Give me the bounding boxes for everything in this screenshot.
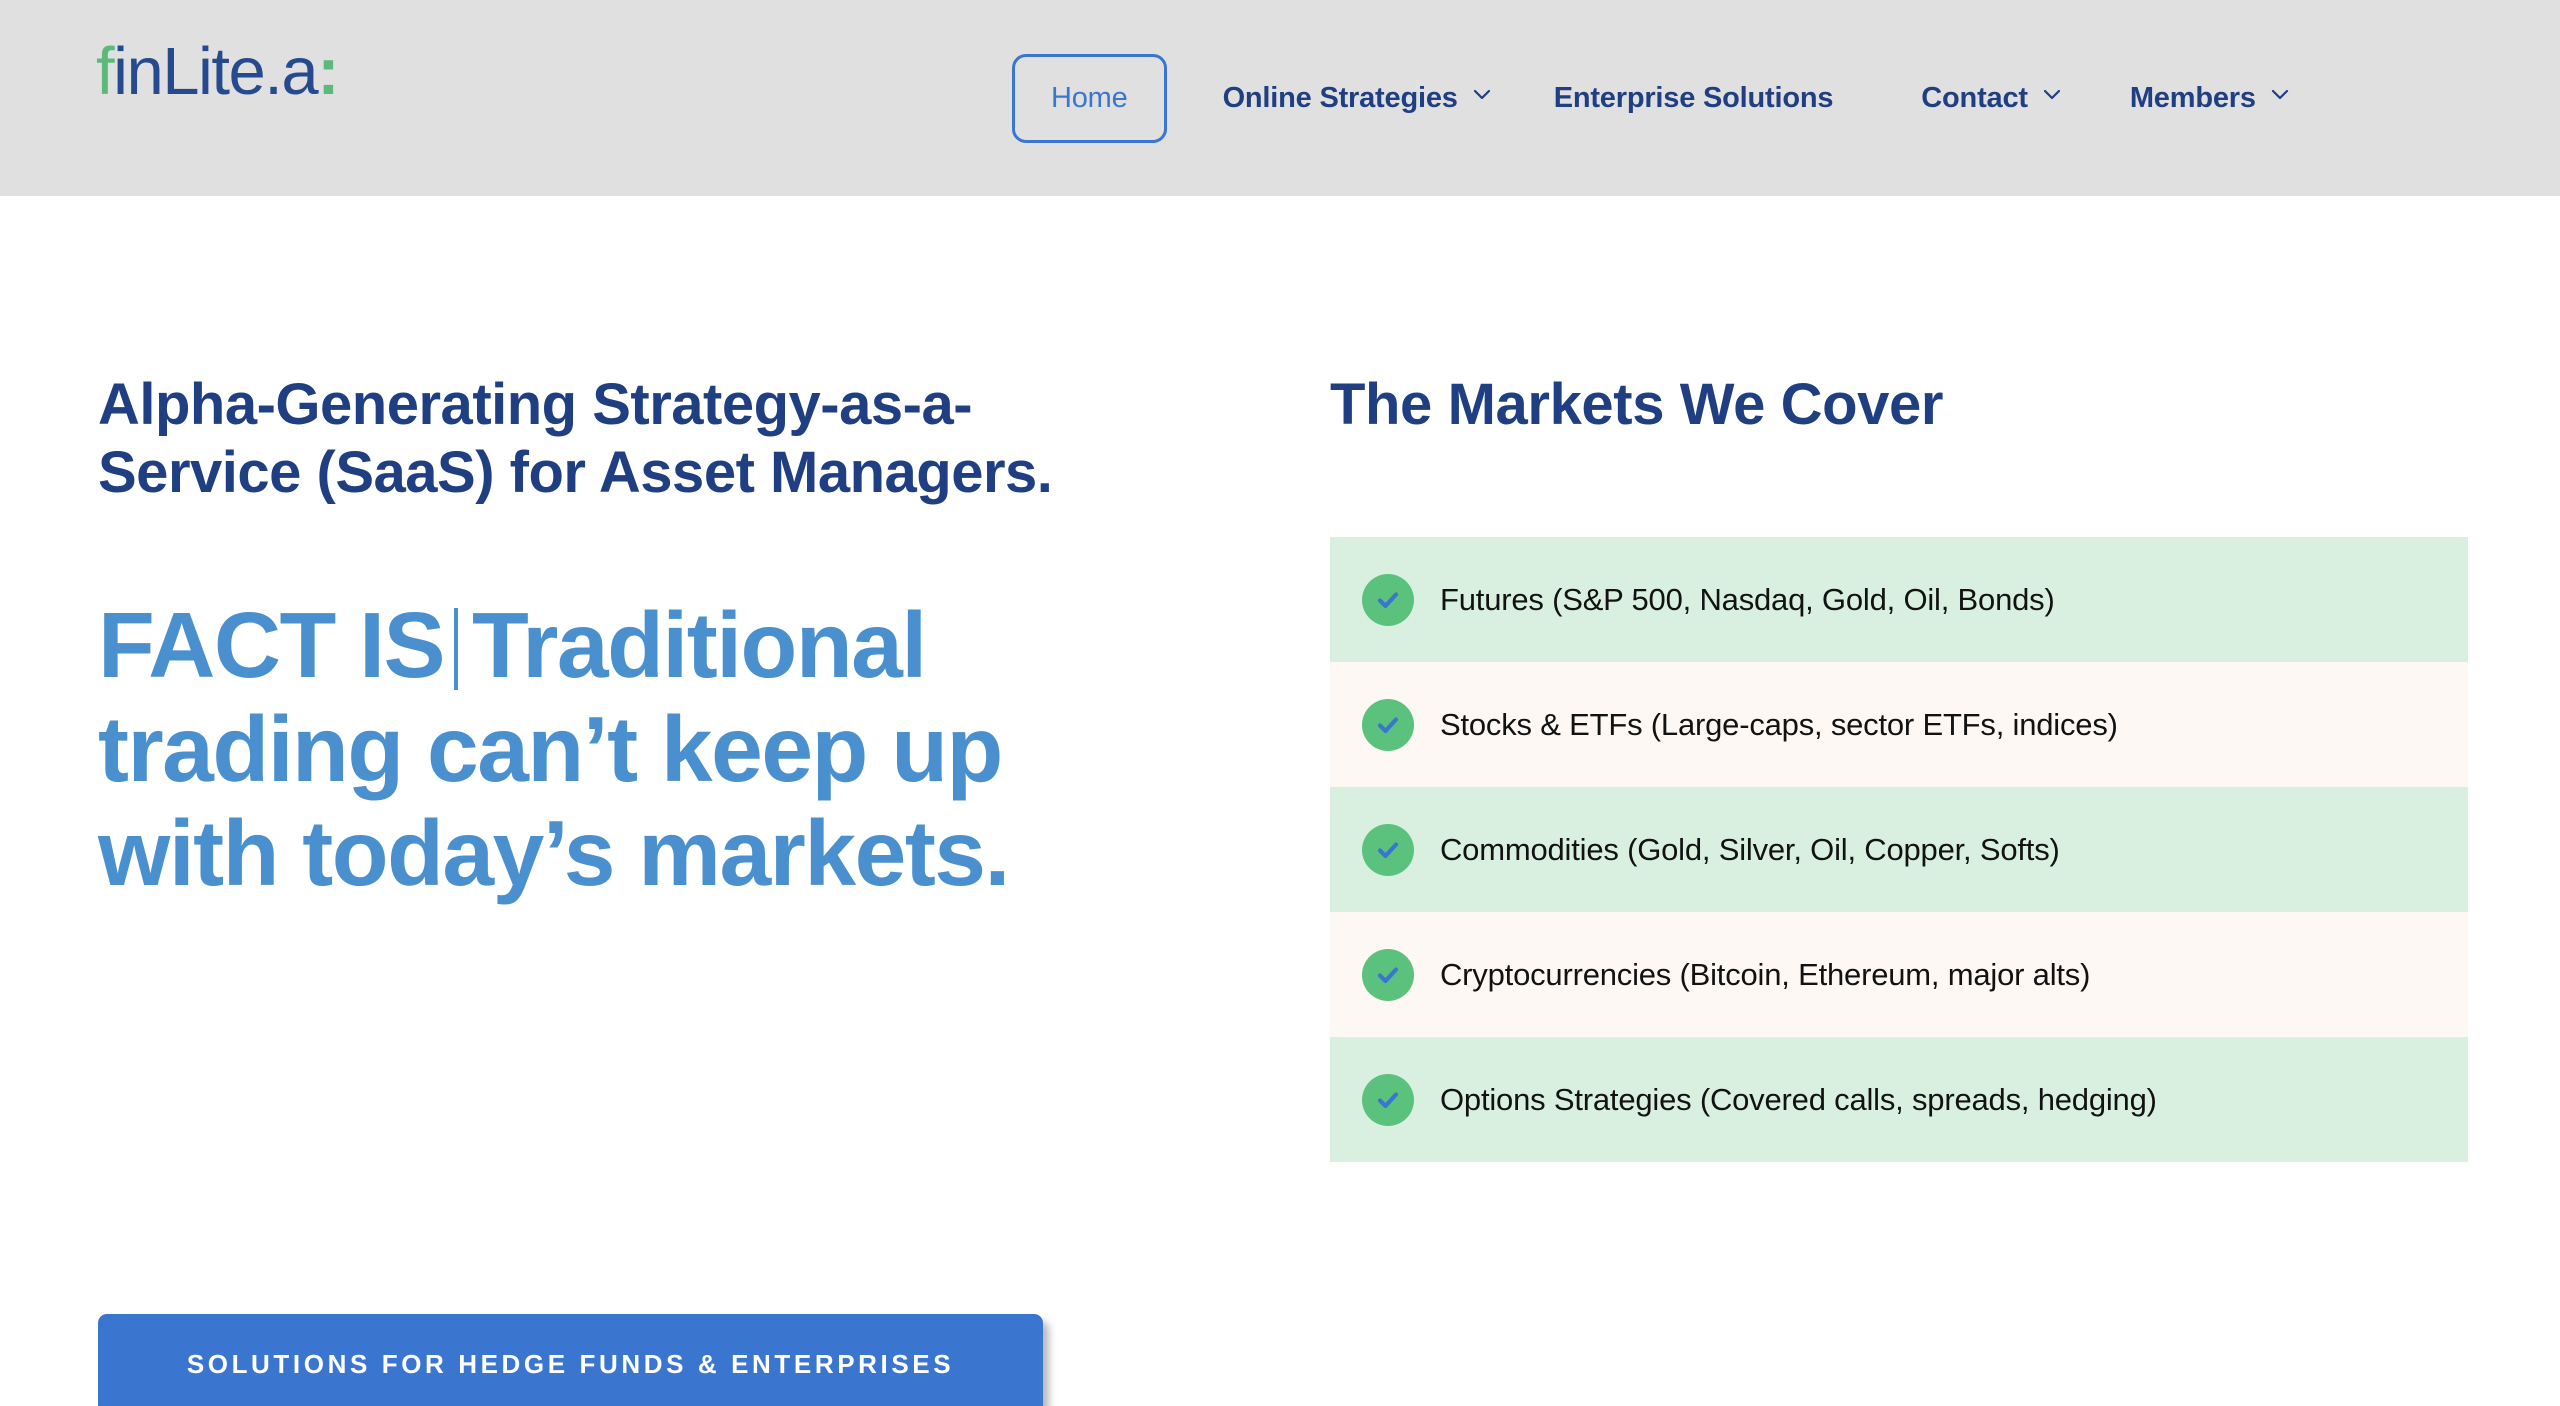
hero-headline-line-2: trading can’t keep up	[98, 697, 1002, 801]
chevron-down-icon	[1472, 85, 1492, 105]
check-circle-icon	[1362, 824, 1414, 876]
nav-item-enterprise-solutions-label: Enterprise Solutions	[1554, 82, 1834, 115]
chevron-down-icon	[2042, 85, 2062, 105]
check-circle-icon	[1362, 949, 1414, 1001]
market-label: Options Strategies (Covered calls, sprea…	[1440, 1082, 2157, 1118]
markets-panel-title: The Markets We Cover	[1330, 371, 2468, 439]
brand-logo[interactable]: finLite.a:	[96, 38, 340, 105]
hero-headline-prefix: FACT IS	[98, 593, 444, 697]
hero-section: Alpha-Generating Strategy-as-a- Service …	[98, 371, 1218, 905]
main-navigation: Home Online Strategies Enterprise Soluti…	[1012, 0, 2290, 196]
hero-subtitle: Alpha-Generating Strategy-as-a- Service …	[98, 371, 1218, 508]
hero-headline-line-3: with today’s markets.	[98, 801, 1009, 905]
nav-item-members-label: Members	[2130, 82, 2256, 115]
nav-item-contact[interactable]: Contact	[1921, 82, 2062, 115]
check-circle-icon	[1362, 1074, 1414, 1126]
list-item[interactable]: Commodities (Gold, Silver, Oil, Copper, …	[1330, 787, 2468, 912]
markets-panel: The Markets We Cover Futures (S&P 500, N…	[1330, 371, 2468, 1162]
nav-item-members[interactable]: Members	[2130, 82, 2290, 115]
check-circle-icon	[1362, 699, 1414, 751]
nav-item-home-label: Home	[1051, 82, 1128, 115]
typewriter-cursor	[454, 608, 458, 690]
site-header: finLite.a: Home Online Strategies Enterp…	[0, 0, 2560, 196]
list-item[interactable]: Futures (S&P 500, Nasdaq, Gold, Oil, Bon…	[1330, 537, 2468, 662]
hero-subtitle-line-2: Service (SaaS) for Asset Managers.	[98, 440, 1052, 505]
hero-headline-line-1: Traditional	[472, 593, 926, 697]
list-item[interactable]: Options Strategies (Covered calls, sprea…	[1330, 1037, 2468, 1162]
list-item[interactable]: Stocks & ETFs (Large-caps, sector ETFs, …	[1330, 662, 2468, 787]
check-circle-icon	[1362, 574, 1414, 626]
nav-item-enterprise-solutions[interactable]: Enterprise Solutions	[1554, 82, 1834, 115]
market-label: Commodities (Gold, Silver, Oil, Copper, …	[1440, 832, 2060, 868]
nav-item-online-strategies[interactable]: Online Strategies	[1223, 82, 1492, 115]
page-body: Alpha-Generating Strategy-as-a- Service …	[0, 196, 2560, 1406]
nav-item-home[interactable]: Home	[1012, 54, 1167, 143]
nav-item-contact-label: Contact	[1921, 82, 2028, 115]
hero-headline: FACT ISTraditional trading can’t keep up…	[98, 593, 1218, 905]
brand-logo-main: inLite.a	[113, 34, 317, 109]
market-label: Stocks & ETFs (Large-caps, sector ETFs, …	[1440, 707, 2118, 743]
markets-list: Futures (S&P 500, Nasdaq, Gold, Oil, Bon…	[1330, 537, 2468, 1162]
chevron-down-icon	[2270, 85, 2290, 105]
brand-logo-initial: f	[96, 34, 113, 109]
market-label: Futures (S&P 500, Nasdaq, Gold, Oil, Bon…	[1440, 582, 2055, 618]
brand-logo-suffix: :	[317, 34, 339, 109]
nav-item-online-strategies-label: Online Strategies	[1223, 82, 1458, 115]
list-item[interactable]: Cryptocurrencies (Bitcoin, Ethereum, maj…	[1330, 912, 2468, 1037]
hero-subtitle-line-1: Alpha-Generating Strategy-as-a-	[98, 372, 972, 437]
market-label: Cryptocurrencies (Bitcoin, Ethereum, maj…	[1440, 957, 2090, 993]
solutions-cta-button[interactable]: SOLUTIONS FOR HEDGE FUNDS & ENTERPRISES	[98, 1314, 1043, 1406]
